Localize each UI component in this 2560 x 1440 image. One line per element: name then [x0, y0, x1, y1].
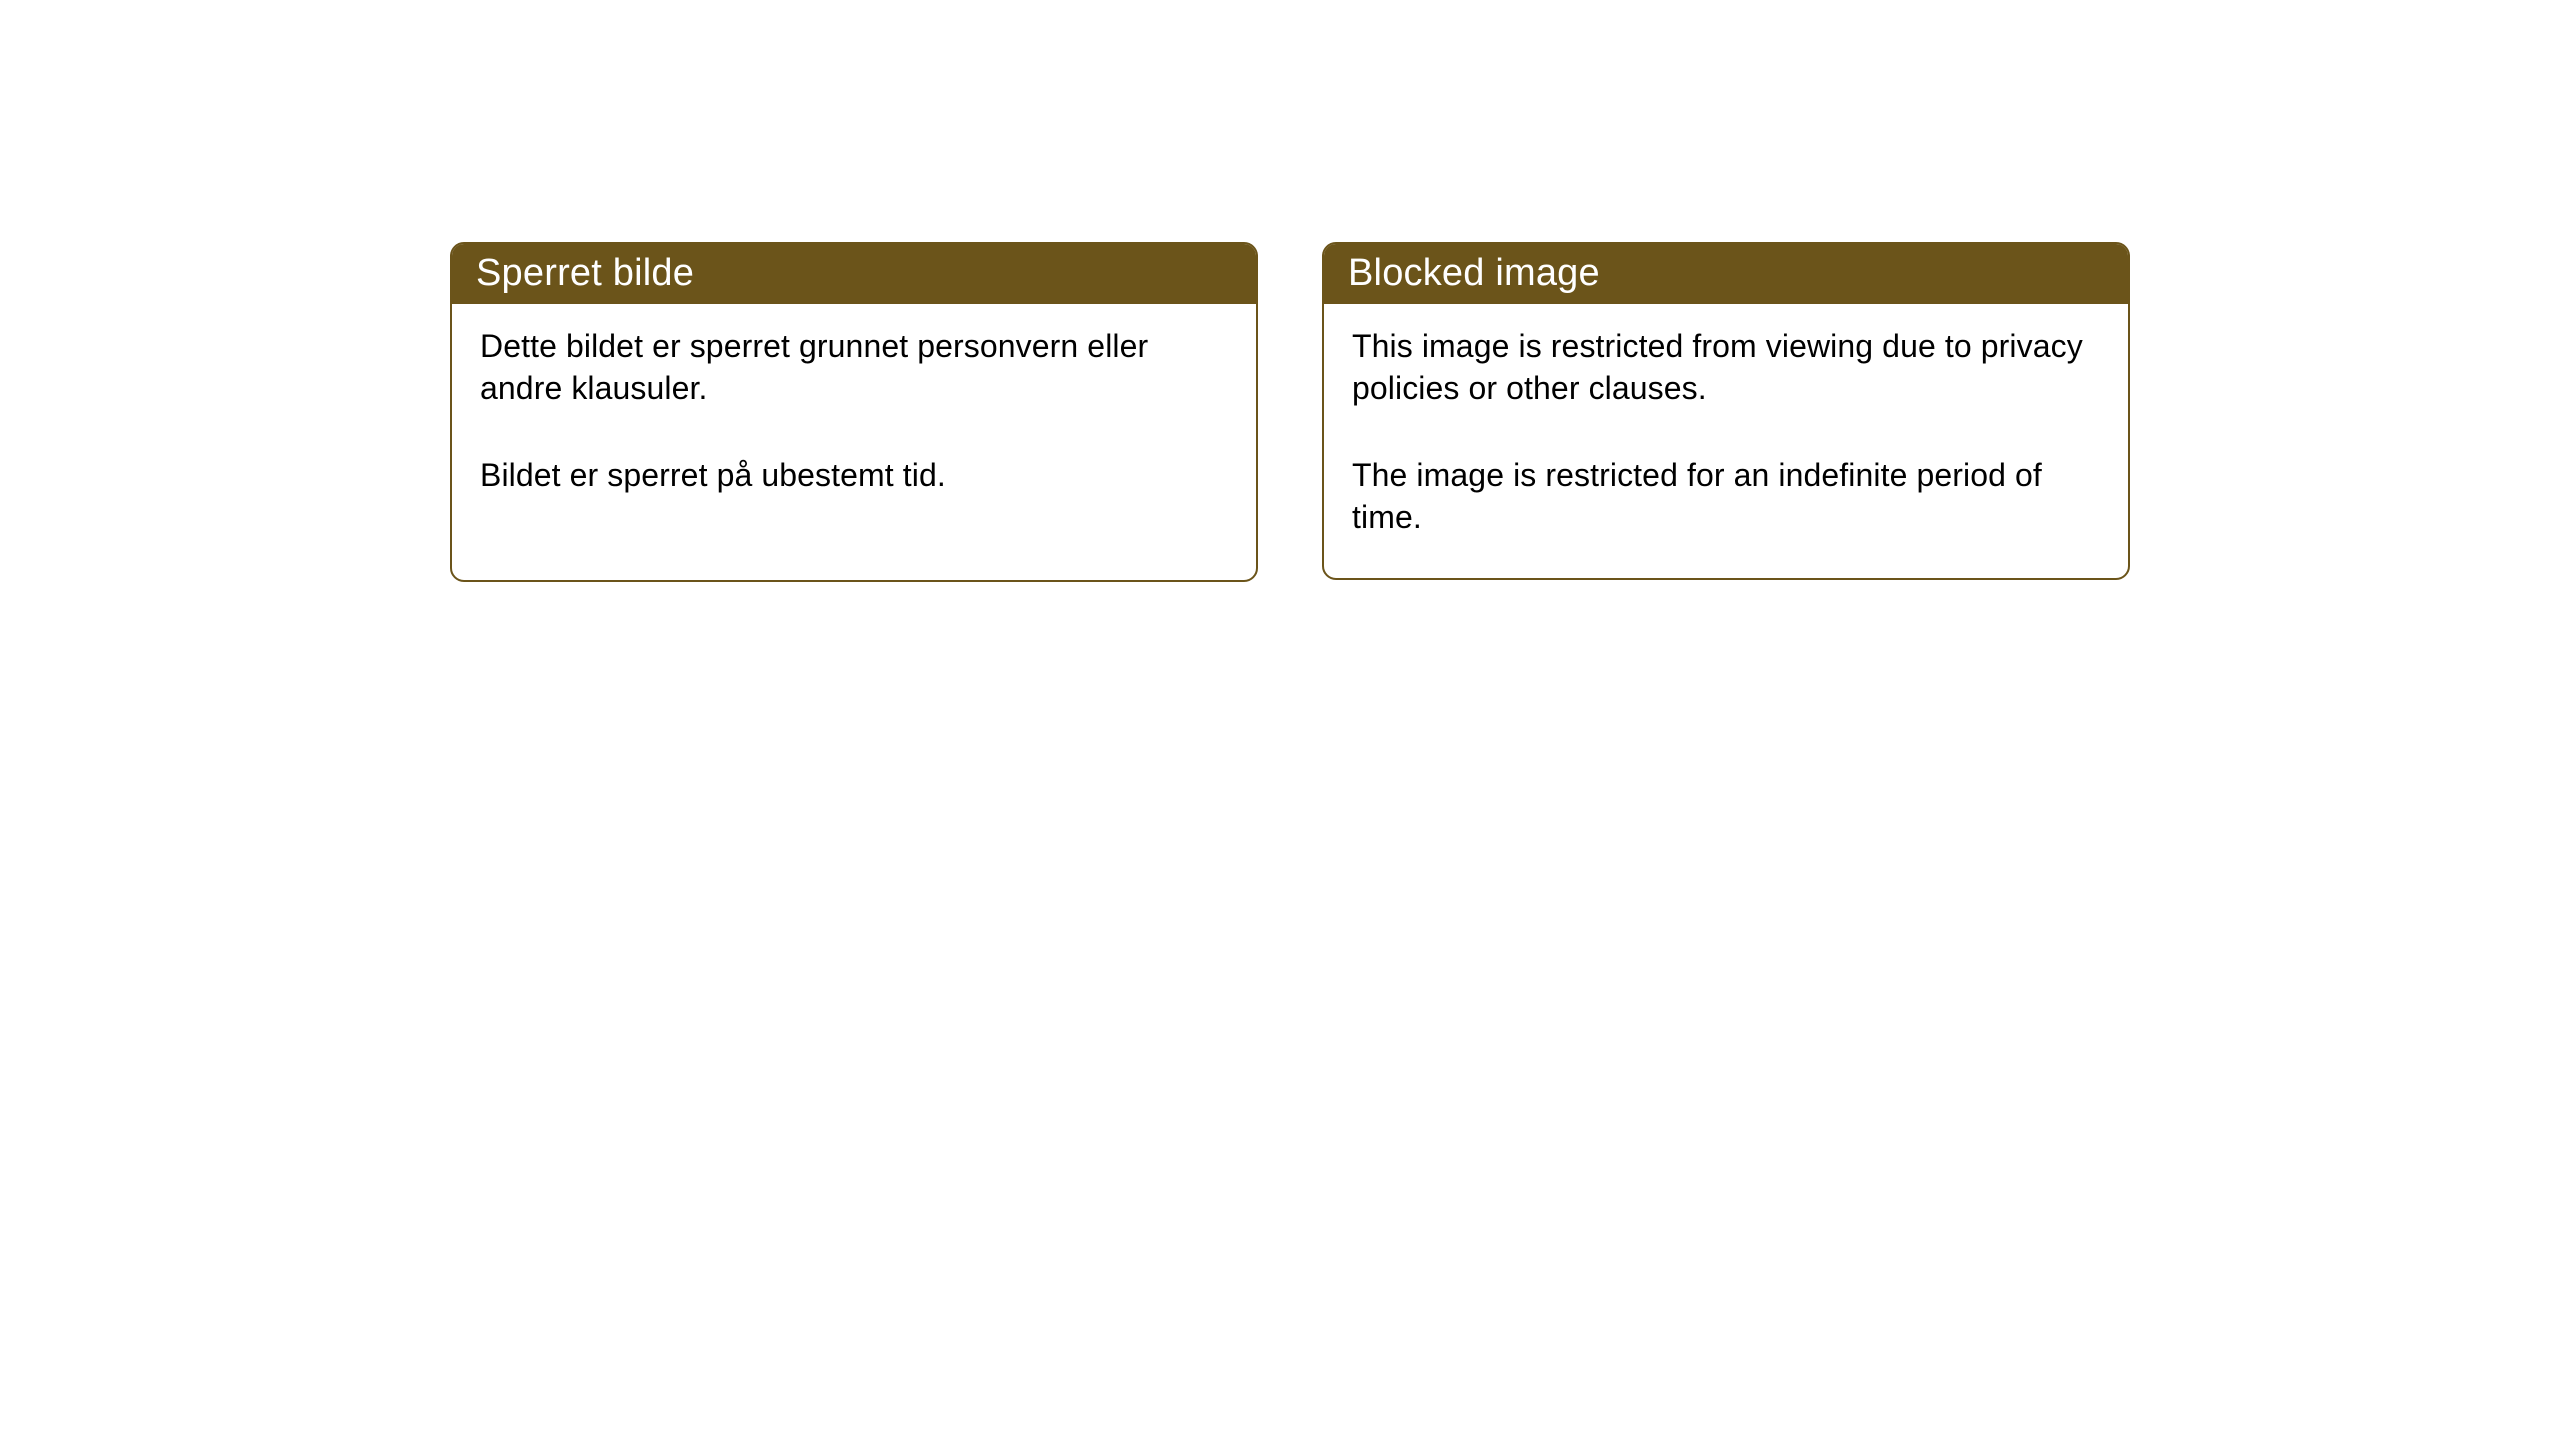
notice-body-english: This image is restricted from viewing du… — [1324, 304, 2128, 578]
notice-title-norwegian: Sperret bilde — [476, 254, 694, 292]
notice-title-english: Blocked image — [1348, 254, 1600, 292]
blocked-image-notice-card-norwegian: Sperret bilde Dette bildet er sperret gr… — [450, 242, 1258, 582]
notice-body-norwegian: Dette bildet er sperret grunnet personve… — [452, 304, 1256, 580]
notice-header-english: Blocked image — [1322, 242, 2130, 304]
blocked-image-notice-group: Sperret bilde Dette bildet er sperret gr… — [450, 242, 2130, 582]
notice-paragraph-duration-norwegian: Bildet er sperret på ubestemt tid. — [480, 455, 1230, 497]
notice-header-norwegian: Sperret bilde — [450, 242, 1258, 304]
blocked-image-notice-card-english: Blocked image This image is restricted f… — [1322, 242, 2130, 580]
notice-paragraph-duration-english: The image is restricted for an indefinit… — [1352, 455, 2102, 538]
notice-paragraph-reason-norwegian: Dette bildet er sperret grunnet personve… — [480, 326, 1230, 409]
notice-paragraph-reason-english: This image is restricted from viewing du… — [1352, 326, 2102, 409]
